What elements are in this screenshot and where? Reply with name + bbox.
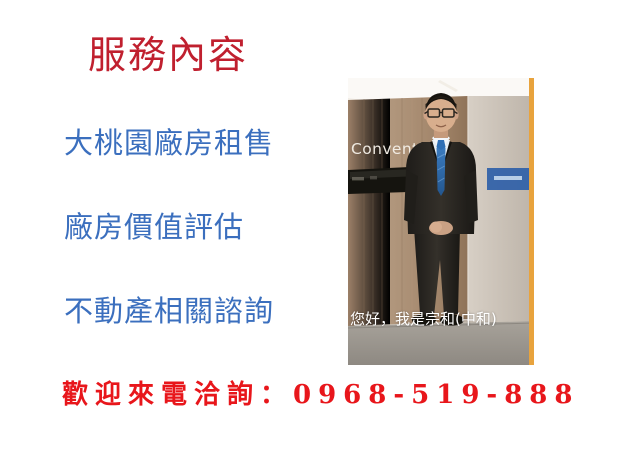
page-title: 服務內容	[88, 34, 248, 78]
service-item-3: 不動產相關諮詢	[64, 296, 274, 328]
contact-phone-line: 歡迎來電洽詢：0968-519-888	[62, 374, 580, 411]
service-item-1: 大桃園廠房租售	[64, 128, 274, 160]
service-item-2: 廠房價值評估	[64, 212, 244, 244]
slide-canvas: 服務內容 大桃園廠房租售 廠房價值評估 不動產相關諮詢 歡迎來電洽詢：0968-…	[0, 0, 640, 451]
photo-caption: 您好，我是宗和(中和)	[350, 308, 540, 329]
